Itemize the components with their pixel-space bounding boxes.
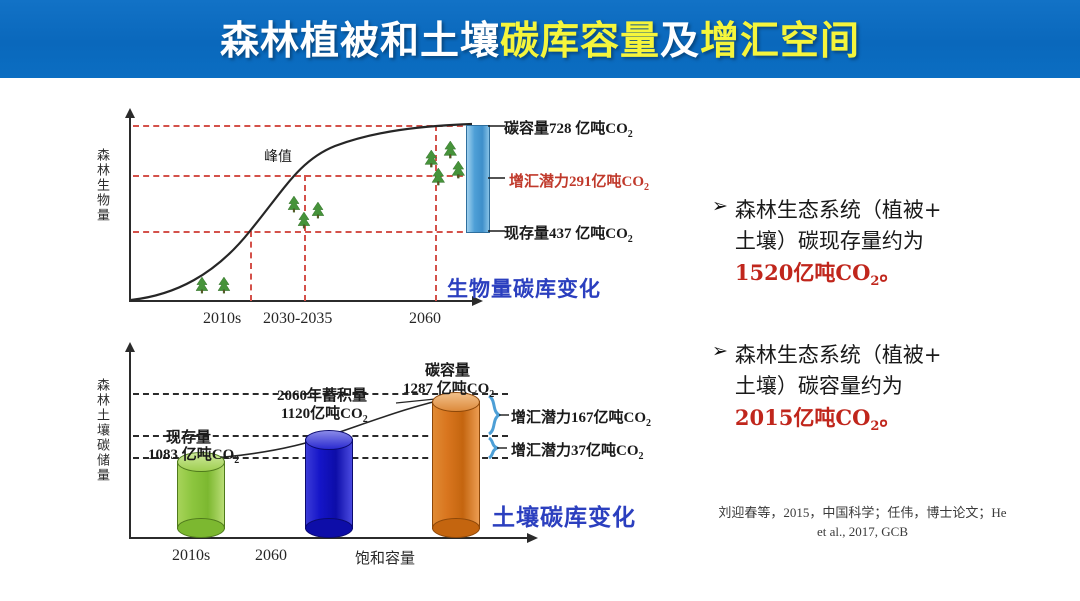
bottom-chart-caption: 土壤碳库变化 [492, 498, 636, 532]
bottom-chart-y-axis-arrow-icon [125, 342, 135, 352]
bottom-chart-potential-37-label: 增汇潜力37亿吨CO2 [511, 439, 644, 462]
top-chart-xtick-2010s: 2010s [203, 310, 241, 328]
top-chart-caption: 生物量碳库变化 [447, 273, 601, 303]
citation-block: 刘迎春等，2015，中国科学；任伟，博士论文；He et al., 2017, … [665, 503, 1060, 541]
citation-line-1: 刘迎春等，2015，中国科学；任伟，博士论文；He [665, 503, 1060, 522]
bottom-chart-potential-167-label: 增汇潜力167亿吨CO2 [511, 406, 651, 429]
bullet-item-1: ➢ 森林生态系统（植被+ 土壤）碳现存量约为1520亿吨CO2。 [712, 195, 1052, 297]
bullet-item-2: ➢ 森林生态系统（植被+ 土壤）碳容量约为2015亿吨CO2。 [712, 340, 1052, 442]
top-chart-x-axis [129, 300, 474, 302]
top-chart-peak-label: 峰值 [264, 146, 292, 166]
page-title: 森林植被和土壤碳库容量及增汇空间 [0, 10, 1080, 66]
bottom-chart-2060-label-line2: 1120亿吨CO2 [281, 402, 368, 425]
top-chart-current-label: 现存量437 亿吨CO2 [504, 222, 633, 245]
top-chart-vline-2030 [304, 175, 306, 301]
top-chart-vline-2010s [250, 231, 252, 301]
cylinder-bottom-green [177, 518, 225, 538]
bullet-arrow-icon: ➢ [712, 195, 728, 218]
bullet-1-text: 森林生态系统（植被+ 土壤）碳现存量约为1520亿吨CO2。 [735, 195, 942, 297]
cylinder-bottom-orange [432, 518, 480, 538]
top-chart-dashline-peak [133, 175, 473, 177]
bullet-arrow-icon-2: ➢ [712, 340, 728, 363]
title-segment-1: 森林植被和土壤 [220, 19, 500, 64]
bottom-chart-x-axis-arrow-icon [527, 533, 538, 543]
bottom-chart-cylinder-2060 [305, 430, 351, 538]
bottom-chart-xtick-2010s: 2010s [172, 547, 210, 565]
top-chart-y-axis-arrow-icon [125, 108, 135, 118]
bottom-chart-y-axis-label: 森林土壤碳储量 [92, 378, 111, 528]
title-segment-3: 及 [660, 19, 700, 64]
bullet-2-text: 森林生态系统（植被+ 土壤）碳容量约为2015亿吨CO2。 [735, 340, 942, 442]
cylinder-bottom-blue [305, 518, 353, 538]
top-chart-potential-label: 增汇潜力291亿吨CO2 [509, 170, 649, 193]
slide-canvas: 森林植被和土壤碳库容量及增汇空间 森林生物量 峰值 [0, 0, 1080, 601]
title-segment-2-highlight: 碳库容量 [500, 19, 660, 64]
top-chart-xtick-2060: 2060 [409, 310, 441, 328]
bottom-chart-cylinder-saturation [432, 392, 478, 538]
top-chart-capacity-label: 碳容量728 亿吨CO2 [504, 117, 633, 140]
top-chart-dashline-current [133, 231, 473, 233]
bottom-chart-xtick-2060: 2060 [255, 547, 287, 565]
bottom-chart-current-label-line2: 1083 亿吨CO2 [148, 443, 239, 466]
bottom-chart-capacity-label-line2: 1287 亿吨CO2 [403, 377, 494, 400]
top-chart-vline-2060 [435, 125, 437, 301]
bottom-chart-y-axis [129, 352, 131, 538]
cylinder-body-blue [305, 439, 353, 529]
top-chart-y-axis-label: 森林生物量 [92, 148, 111, 278]
bullet-2-value: 2015亿吨CO2。 [735, 402, 942, 442]
cylinder-top-blue [305, 430, 353, 450]
cylinder-body-orange [432, 401, 480, 529]
bullet-1-value: 1520亿吨CO2。 [735, 257, 942, 297]
top-chart-potential-bar [466, 125, 490, 233]
title-segment-4-highlight: 增汇空间 [700, 19, 860, 64]
citation-line-2: et al., 2017, GCB [665, 522, 1060, 541]
top-chart-xtick-2030: 2030-2035 [263, 310, 332, 328]
top-chart-dashline-capacity [133, 125, 473, 127]
top-chart-y-axis [129, 118, 131, 302]
bottom-chart-xtick-saturation: 饱和容量 [355, 547, 415, 568]
